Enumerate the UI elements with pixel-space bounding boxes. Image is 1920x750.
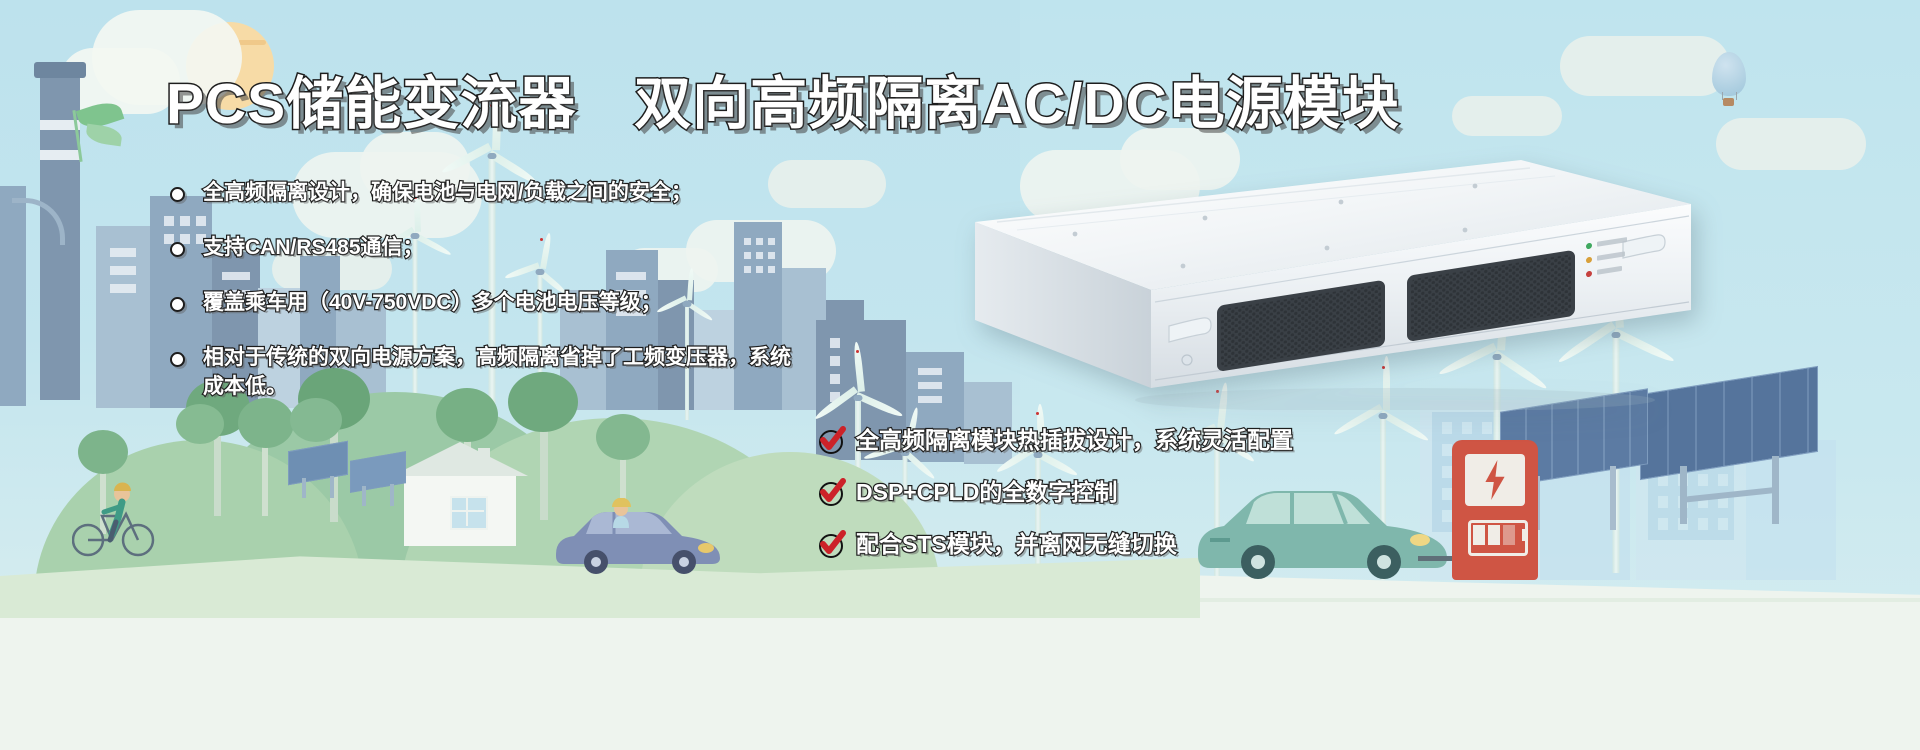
balloon-rope bbox=[1722, 92, 1723, 100]
window-shape bbox=[110, 266, 136, 275]
cloud-shape bbox=[1716, 118, 1866, 170]
window-shape bbox=[918, 368, 942, 375]
house-window bbox=[450, 496, 488, 530]
check-circle-icon bbox=[818, 478, 846, 506]
banner-title-container: PCS储能变流器 双向高频隔离AC/DC电源模块 bbox=[166, 68, 1366, 140]
passenger-svg bbox=[604, 498, 638, 532]
list-item: 配合STS模块，并离网无缝切换 bbox=[818, 529, 1458, 559]
cyclist-svg bbox=[72, 478, 158, 560]
product-banner: Normal Alarm Fault PCS储能变流器 双向高频隔离AC/DC电… bbox=[0, 0, 1920, 750]
list-item: 支持CAN/RS485通信； bbox=[170, 233, 870, 262]
bullet-dot-icon bbox=[170, 242, 185, 257]
balloon-basket-icon bbox=[1723, 98, 1734, 106]
hot-air-balloon-icon bbox=[1712, 52, 1746, 96]
feature-text: 相对于传统的双向电源方案，高频隔离省掉了工频变压器，系统成本低。 bbox=[203, 343, 803, 401]
car-svg bbox=[548, 498, 728, 574]
check-circle-icon bbox=[818, 530, 846, 558]
feature-text: 支持CAN/RS485通信； bbox=[203, 233, 424, 262]
ev-charger-icon bbox=[1452, 440, 1538, 580]
house-roof bbox=[392, 442, 528, 476]
house-window-bar bbox=[450, 510, 484, 512]
highlight-text: 全高频隔离模块热插拔设计，系统灵活配置 bbox=[856, 425, 1293, 455]
tree-canopy bbox=[290, 398, 342, 442]
tree-canopy bbox=[596, 414, 650, 460]
feature-text: 全高频隔离设计，确保电池与电网/负载之间的安全； bbox=[203, 178, 692, 207]
solar-panel-icon bbox=[288, 446, 348, 500]
window-shape bbox=[918, 396, 942, 403]
list-item: 覆盖乘车用（40V-750VDC）多个电池电压等级； bbox=[170, 288, 870, 317]
highlight-text: 配合STS模块，并离网无缝切换 bbox=[856, 529, 1177, 559]
check-mark-icon bbox=[818, 530, 846, 558]
tree-canopy bbox=[78, 430, 128, 474]
check-mark-icon bbox=[818, 478, 846, 506]
chimney-stripe bbox=[40, 150, 80, 160]
cloud-shape bbox=[1560, 36, 1730, 96]
battery-cell bbox=[1503, 525, 1515, 545]
highlight-text: DSP+CPLD的全数字控制 bbox=[856, 477, 1117, 507]
sun-ray-icon bbox=[238, 40, 266, 45]
window-shape bbox=[918, 382, 942, 389]
list-item: DSP+CPLD的全数字控制 bbox=[818, 477, 1458, 507]
car-icon bbox=[548, 498, 728, 574]
chimney-cap bbox=[34, 62, 86, 78]
highlight-list: 全高频隔离模块热插拔设计，系统灵活配置 DSP+CPLD的全数字控制 配合STS… bbox=[818, 425, 1458, 559]
list-item: 相对于传统的双向电源方案，高频隔离省掉了工频变压器，系统成本低。 bbox=[170, 343, 870, 401]
list-item: 全高频隔离模块热插拔设计，系统灵活配置 bbox=[818, 425, 1458, 455]
check-mark-icon bbox=[818, 426, 846, 454]
balloon-rope bbox=[1736, 92, 1737, 100]
check-circle-icon bbox=[818, 426, 846, 454]
bullet-dot-icon bbox=[170, 297, 185, 312]
bullet-dot-icon bbox=[170, 352, 185, 367]
bullet-dot-icon bbox=[170, 187, 185, 202]
battery-cell bbox=[1473, 525, 1485, 545]
window-shape bbox=[110, 248, 136, 257]
house-chimney bbox=[478, 448, 490, 470]
cloud-shape bbox=[1452, 96, 1562, 136]
pcs-device-image bbox=[955, 160, 1695, 410]
cyclist-icon bbox=[72, 478, 158, 560]
list-item: 全高频隔离设计，确保电池与电网/负载之间的安全； bbox=[170, 178, 870, 207]
car-passenger-icon bbox=[604, 498, 638, 532]
tree-canopy bbox=[238, 398, 294, 448]
window-shape bbox=[110, 284, 136, 293]
feature-text: 覆盖乘车用（40V-750VDC）多个电池电压等级； bbox=[203, 288, 662, 317]
solar-panel-icon bbox=[350, 456, 408, 508]
battery-tip bbox=[1522, 529, 1527, 541]
battery-cell bbox=[1488, 525, 1500, 545]
feature-list: 全高频隔离设计，确保电池与电网/负载之间的安全； 支持CAN/RS485通信； … bbox=[170, 178, 870, 401]
tree-canopy bbox=[176, 404, 224, 444]
pcs-device-svg bbox=[955, 160, 1695, 410]
page-title: PCS储能变流器 双向高频隔离AC/DC电源模块 bbox=[166, 68, 1366, 140]
